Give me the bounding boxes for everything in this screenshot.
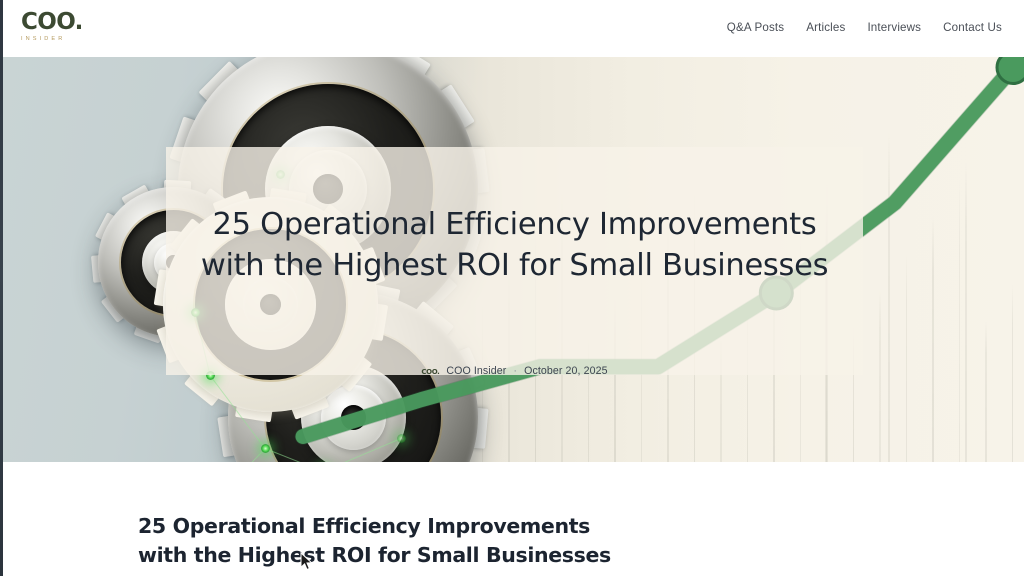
glow-link-line — [218, 448, 266, 462]
glow-link-line — [323, 438, 401, 462]
nav-item-articles[interactable]: Articles — [806, 21, 845, 34]
byline-logo-icon: COO. — [421, 368, 439, 376]
article-section: 25 Operational Efficiency Improvements w… — [3, 462, 1024, 576]
hero-byline: COO. COO Insider · October 20, 2025 — [166, 365, 863, 377]
glow-node-dot — [261, 444, 270, 453]
logo-wordmark: COO. — [21, 11, 161, 34]
article-title-line-2: with the Highest ROI for Small Businesse… — [138, 543, 611, 567]
main-navigation: Q&A Posts Articles Interviews Contact Us — [727, 21, 1002, 34]
byline-date: October 20, 2025 — [524, 365, 607, 377]
nav-item-qa-posts[interactable]: Q&A Posts — [727, 21, 784, 34]
hero-banner: 25 Operational Efficiency Improvements w… — [3, 57, 1024, 462]
site-header: COO. INSIDER Q&A Posts Articles Intervie… — [0, 0, 1024, 57]
glow-link-line — [210, 375, 266, 449]
site-logo[interactable]: COO. INSIDER — [21, 11, 161, 47]
glow-node-dot — [397, 434, 406, 443]
browser-edge-strip — [0, 0, 3, 576]
article-title: 25 Operational Efficiency Improvements w… — [138, 512, 838, 570]
article-title-line-1: 25 Operational Efficiency Improvements — [138, 514, 590, 538]
logo-tagline: INSIDER — [21, 36, 161, 43]
nav-item-contact-us[interactable]: Contact Us — [943, 21, 1002, 34]
nav-item-interviews[interactable]: Interviews — [867, 21, 921, 34]
byline-author[interactable]: COO Insider — [446, 365, 506, 377]
hero-title-line-2: with the Highest ROI for Small Businesse… — [201, 248, 828, 283]
page-root: COO. INSIDER Q&A Posts Articles Intervie… — [0, 0, 1024, 576]
byline-separator: · — [513, 365, 517, 377]
glow-link-line — [265, 448, 323, 462]
hero-title: 25 Operational Efficiency Improvements w… — [166, 204, 863, 286]
hero-title-line-1: 25 Operational Efficiency Improvements — [213, 207, 817, 242]
